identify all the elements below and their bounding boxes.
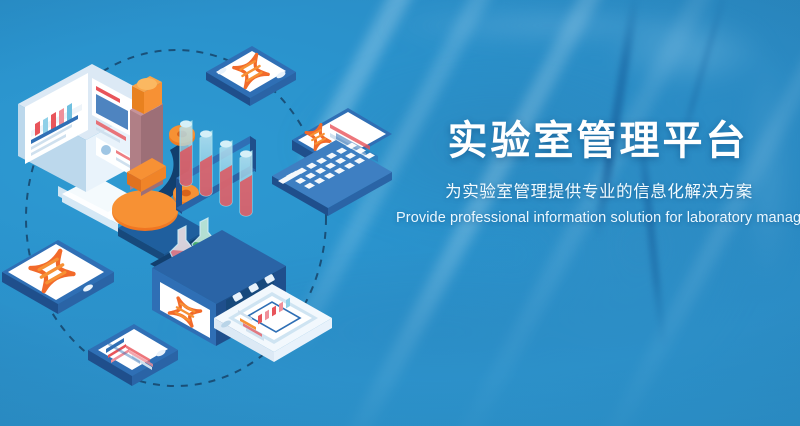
- smartphone-dna-top: [206, 46, 296, 106]
- subtitle-english: Provide professional information solutio…: [396, 209, 800, 228]
- page-title: 实验室管理平台: [396, 118, 800, 165]
- test-tube-rack: [176, 120, 256, 216]
- banner-copy: 实验室管理平台 为实验室管理提供专业的信息化解决方案 Provide profe…: [396, 118, 800, 228]
- smartphone-report: [88, 324, 178, 386]
- lab-illustration: [0, 0, 400, 426]
- tablet-dna: [2, 240, 114, 314]
- subtitle-chinese: 为实验室管理提供专业的信息化解决方案: [396, 181, 800, 203]
- laboratory-platform-banner: 实验室管理平台 为实验室管理提供专业的信息化解决方案 Provide profe…: [0, 0, 800, 426]
- laptop: [272, 108, 392, 216]
